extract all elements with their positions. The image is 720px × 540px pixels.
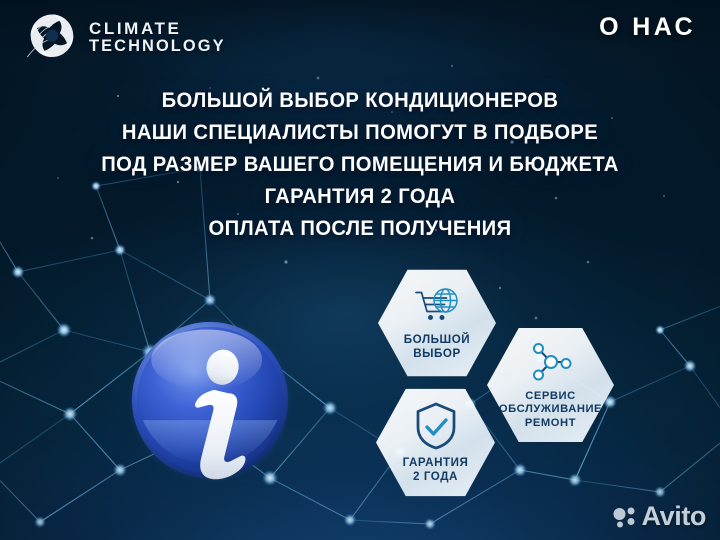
promo-banner: CLIMATE TECHNOLOGY О НАС БОЛЬШОЙ ВЫБОР К… [0,0,720,540]
brand-name-line1: CLIMATE [89,20,226,38]
headline-line-1: БОЛЬШОЙ ВЫБОР КОНДИЦИОНЕРОВ [22,84,699,116]
shopping-cart-globe-icon [412,286,462,326]
brand-name: CLIMATE TECHNOLOGY [89,20,226,55]
feature-label-warranty: ГАРАНТИЯ 2 ГОДА [403,456,469,483]
page-title: О НАС [599,13,696,42]
info-sphere-icon [126,316,294,484]
brand-logo[interactable]: CLIMATE TECHNOLOGY [24,10,226,66]
feature-label-choice: БОЛЬШОЙ ВЫБОР [404,333,470,360]
avito-dots-icon [612,506,638,528]
avito-watermark: Avito [612,501,707,532]
swirl-fan-logo-icon [24,10,80,66]
avito-wordmark: Avito [642,501,707,532]
headline-line-5: ОПЛАТА ПОСЛЕ ПОЛУЧЕНИЯ [22,212,699,244]
feature-label-service: СЕРВИС ОБСЛУЖИВАНИЕ РЕМОНТ [499,390,602,429]
headline-line-3: ПОД РАЗМЕР ВАШЕГО ПОМЕЩЕНИЯ И БЮДЖЕТА [22,148,699,180]
shield-check-icon [415,402,457,450]
headline-line-2: НАШИ СПЕЦИАЛИСТЫ ПОМОГУТ В ПОДБОРЕ [22,116,699,148]
brand-name-line2: TECHNOLOGY [89,38,226,55]
headline-block: БОЛЬШОЙ ВЫБОР КОНДИЦИОНЕРОВ НАШИ СПЕЦИАЛ… [22,84,699,244]
network-nodes-icon [526,340,576,384]
headline-line-4: ГАРАНТИЯ 2 ГОДА [22,180,699,212]
vignette [0,0,720,540]
